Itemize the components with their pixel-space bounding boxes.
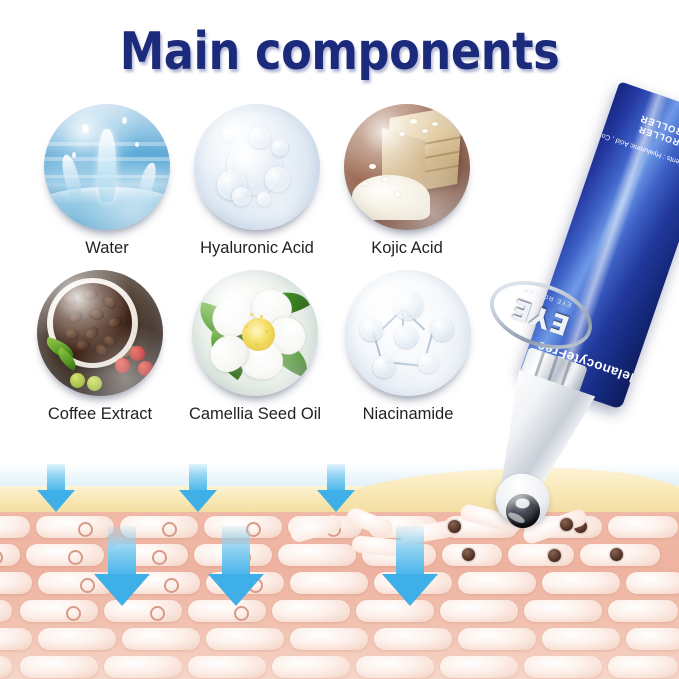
ingredient-label: Coffee Extract [25,405,175,424]
tube-body: HATIKY MelanocyteFree EYE ROLLER 360 ROL… [519,81,679,409]
tube-roller-label-top: EYE ROLLER [639,112,679,145]
ingredient-label: Water [32,239,182,258]
penetration-arrow-surface [314,464,358,514]
skin-cross-section-diagram [0,464,679,679]
ingredient-label: Hyaluronic Acid [182,239,332,258]
camellia-flower-icon [192,270,318,396]
tube-brand-text: HATIKY MelanocyteFree [535,338,679,406]
infographic-canvas: Main components Water [0,0,679,679]
ingredient-item-coffee-extract: Coffee Extract [25,270,175,424]
ingredient-item-niacinamide: Niacinamide [333,270,483,424]
bubble-cluster-icon [194,104,320,230]
penetration-arrow-surface [176,464,220,514]
tube-roller-label-bottom: 360 ROLLER [637,124,679,154]
ingredient-item-hyaluronic-acid: Hyaluronic Acid [182,104,332,258]
penetration-arrow-deep [382,526,438,604]
page-title: Main components [48,22,632,82]
tube-ingredients-text: Ingredients : Hyaluronic Acid , Coffee e… [568,119,679,172]
penetration-arrow-surface [34,464,78,514]
penetration-arrow-deep [208,526,264,604]
badge-ring [481,268,601,361]
ingredient-label: Niacinamide [333,405,483,424]
coffee-beans-bowl-icon [37,270,163,396]
badge-subtext: EYE ROLLER [496,276,599,317]
molecule-structure-icon [345,270,471,396]
ingredient-item-kojic-acid: Kojic Acid [332,104,482,258]
ingredient-label: Kojic Acid [332,239,482,258]
rice-wooden-box-icon [344,104,470,230]
eye-logo-badge: EYE ROLLER EYE [481,268,601,361]
ingredient-label: Camellia Seed Oil [180,405,330,424]
ingredient-item-camellia-seed-oil: Camellia Seed Oil [180,270,330,424]
tube-neck [518,347,588,399]
ingredient-item-water: Water [32,104,182,258]
water-splash-icon [44,104,170,230]
badge-text: EYE [485,285,595,349]
penetration-arrow-deep [94,526,150,604]
product-tube: HATIKY MelanocyteFree EYE ROLLER 360 ROL… [470,88,679,508]
